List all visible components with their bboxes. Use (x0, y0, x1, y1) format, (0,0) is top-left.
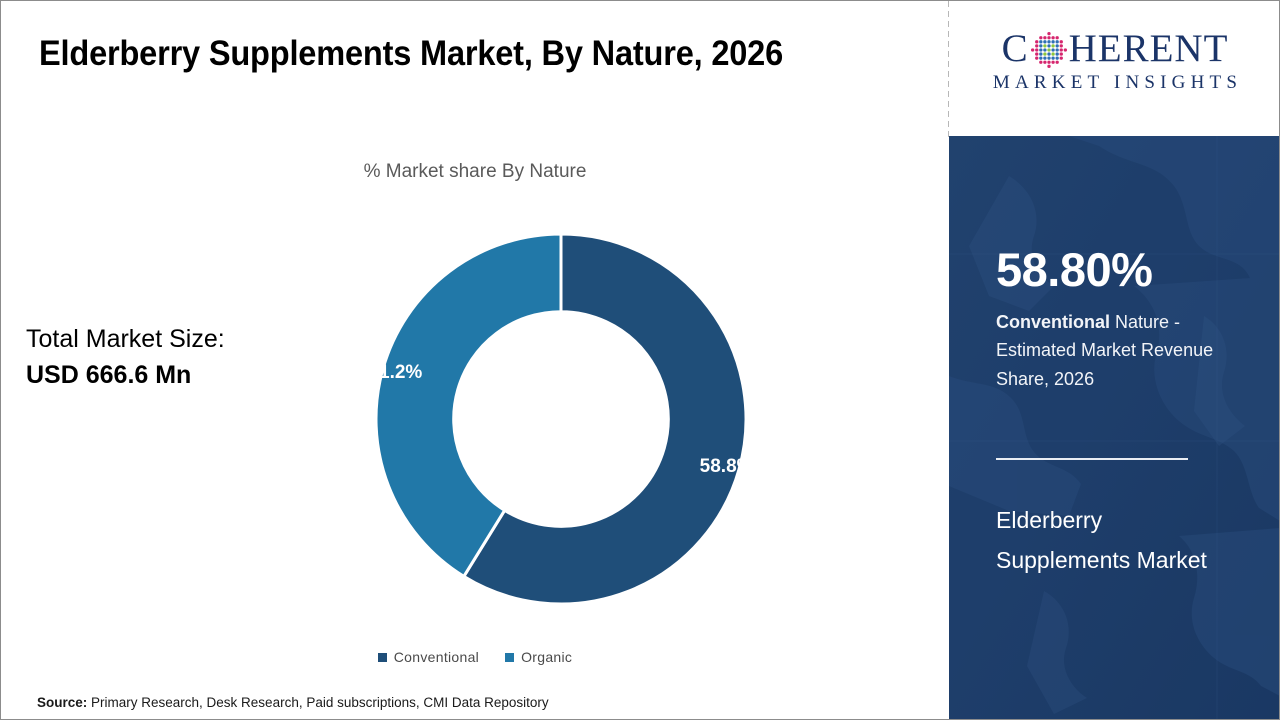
legend-item-conventional[interactable]: Conventional (378, 649, 479, 665)
panel-divider (996, 458, 1188, 460)
donut-chart-svg: 58.8%41.2% (361, 219, 761, 619)
total-market-size-value: USD 666.6 Mn (26, 359, 326, 391)
donut-data-label-conventional: 58.8% (700, 456, 754, 477)
globe-dots-icon-svg (1030, 31, 1068, 69)
chart-subtitle: % Market share By Nature (1, 161, 949, 183)
logo-area: C HERENT MARKET INSIGHTS (949, 1, 1280, 136)
main-chart-pane: Elderberry Supplements Market, By Nature… (1, 1, 949, 719)
right-side-panel: C HERENT MARKET INSIGHTS (949, 1, 1280, 719)
infographic-canvas: Elderberry Supplements Market, By Nature… (0, 0, 1280, 720)
source-text: Primary Research, Desk Research, Paid su… (87, 695, 548, 710)
donut-slice-group (376, 234, 746, 604)
globe-dots-icon (1030, 31, 1068, 69)
donut-data-label-organic: 41.2% (368, 362, 422, 383)
stat-description-highlight: Conventional (996, 312, 1110, 332)
panel-market-name: Elderberry Supplements Market (996, 500, 1231, 581)
legend-swatch-organic (505, 653, 514, 662)
source-line: Source: Primary Research, Desk Research,… (37, 695, 549, 710)
logo-letter-c: C (1002, 29, 1029, 68)
right-panel-body: 58.80% Conventional Nature - Estimated M… (949, 136, 1280, 719)
donut-chart: 58.8%41.2% (361, 219, 761, 619)
brand-logo[interactable]: C HERENT MARKET INSIGHTS (965, 29, 1265, 94)
right-panel-content: 58.80% Conventional Nature - Estimated M… (996, 136, 1246, 719)
page-title: Elderberry Supplements Market, By Nature… (39, 34, 867, 74)
legend-label-organic: Organic (521, 649, 572, 665)
legend-label-conventional: Conventional (394, 649, 479, 665)
total-market-size-block: Total Market Size: USD 666.6 Mn (26, 323, 326, 391)
logo-letters-herent: HERENT (1069, 29, 1229, 68)
source-label: Source: (37, 695, 87, 710)
legend-swatch-conventional (378, 653, 387, 662)
legend-item-organic[interactable]: Organic (505, 649, 572, 665)
logo-tagline: MARKET INSIGHTS (965, 72, 1265, 94)
stat-description: Conventional Nature - Estimated Market R… (996, 308, 1226, 393)
chart-legend: ConventionalOrganic (1, 649, 949, 665)
stat-value: 58.80% (996, 246, 1152, 293)
logo-wordmark: C HERENT (965, 29, 1265, 68)
total-market-size-label: Total Market Size: (26, 323, 326, 355)
